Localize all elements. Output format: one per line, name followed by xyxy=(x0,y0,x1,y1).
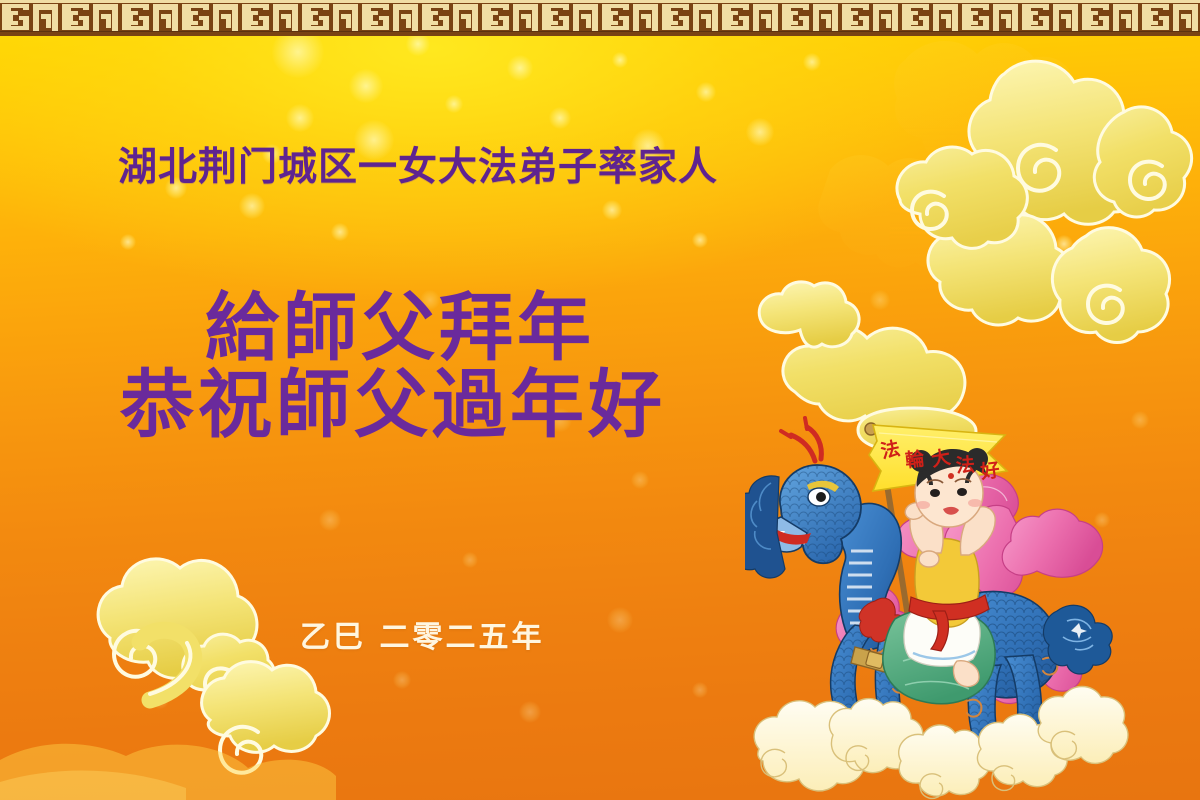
banner-char-3: 大 xyxy=(929,442,952,472)
bokeh-light xyxy=(120,234,136,250)
border-underline xyxy=(0,32,1200,36)
banner-text: 法 輪 大 法 好 xyxy=(876,425,1010,496)
bokeh-light xyxy=(331,223,349,241)
banner-char-1: 法 xyxy=(878,434,902,464)
sender-title: 湖北荆门城区一女大法弟子率家人 xyxy=(118,136,718,192)
bokeh-light xyxy=(262,144,282,164)
bokeh-light xyxy=(631,471,649,489)
new-year-greeting-card: 法 輪 大 法 好 湖北荆门城区一女大法弟子率家人 給師父拜年 恭祝師父過年好 … xyxy=(0,0,1200,800)
bokeh-light xyxy=(462,552,478,568)
meander-pattern-icon xyxy=(0,0,1200,36)
bokeh-light xyxy=(286,104,314,132)
bokeh-light xyxy=(349,69,383,103)
bokeh-light xyxy=(151,691,169,709)
bokeh-light xyxy=(746,118,774,146)
bokeh-light xyxy=(354,120,394,160)
bokeh-light xyxy=(602,200,622,220)
bokeh-light xyxy=(393,671,411,689)
bokeh-light xyxy=(692,682,708,698)
bokeh-light xyxy=(692,232,708,248)
top-meander-border xyxy=(0,0,1200,36)
bokeh-light xyxy=(612,52,628,68)
bokeh-light xyxy=(696,82,716,102)
bokeh-light xyxy=(1055,235,1073,253)
greeting-line-1: 給師父拜年 xyxy=(205,268,595,375)
banner-char-2: 輪 xyxy=(904,444,926,473)
bokeh-light xyxy=(607,607,633,633)
banner-char-4: 法 xyxy=(955,450,976,478)
bokeh-light xyxy=(165,177,187,199)
child-riding-dragon-illustration: 法 輪 大 法 好 xyxy=(745,405,1155,800)
bokeh-light xyxy=(519,701,541,723)
cloud-top-right-main xyxy=(759,61,1191,452)
banner-char-5: 好 xyxy=(979,455,1002,484)
greeting-line-2: 恭祝師父過年好 xyxy=(120,345,666,452)
bokeh-light xyxy=(507,55,533,81)
bokeh-light xyxy=(420,290,440,310)
cloud-bottom-left xyxy=(0,559,336,800)
bokeh-light xyxy=(803,53,821,71)
cloud-ghost-top-right xyxy=(818,41,1092,268)
date-line: 乙巳 二零二五年 xyxy=(300,612,544,656)
bokeh-light xyxy=(1093,189,1107,203)
bokeh-light xyxy=(549,107,571,129)
bokeh-light xyxy=(319,509,341,531)
bokeh-light xyxy=(202,590,222,610)
bokeh-light xyxy=(631,129,665,163)
bokeh-light xyxy=(870,290,890,310)
bokeh-light xyxy=(239,193,265,219)
bokeh-light xyxy=(548,408,572,432)
bokeh-light xyxy=(445,95,463,113)
